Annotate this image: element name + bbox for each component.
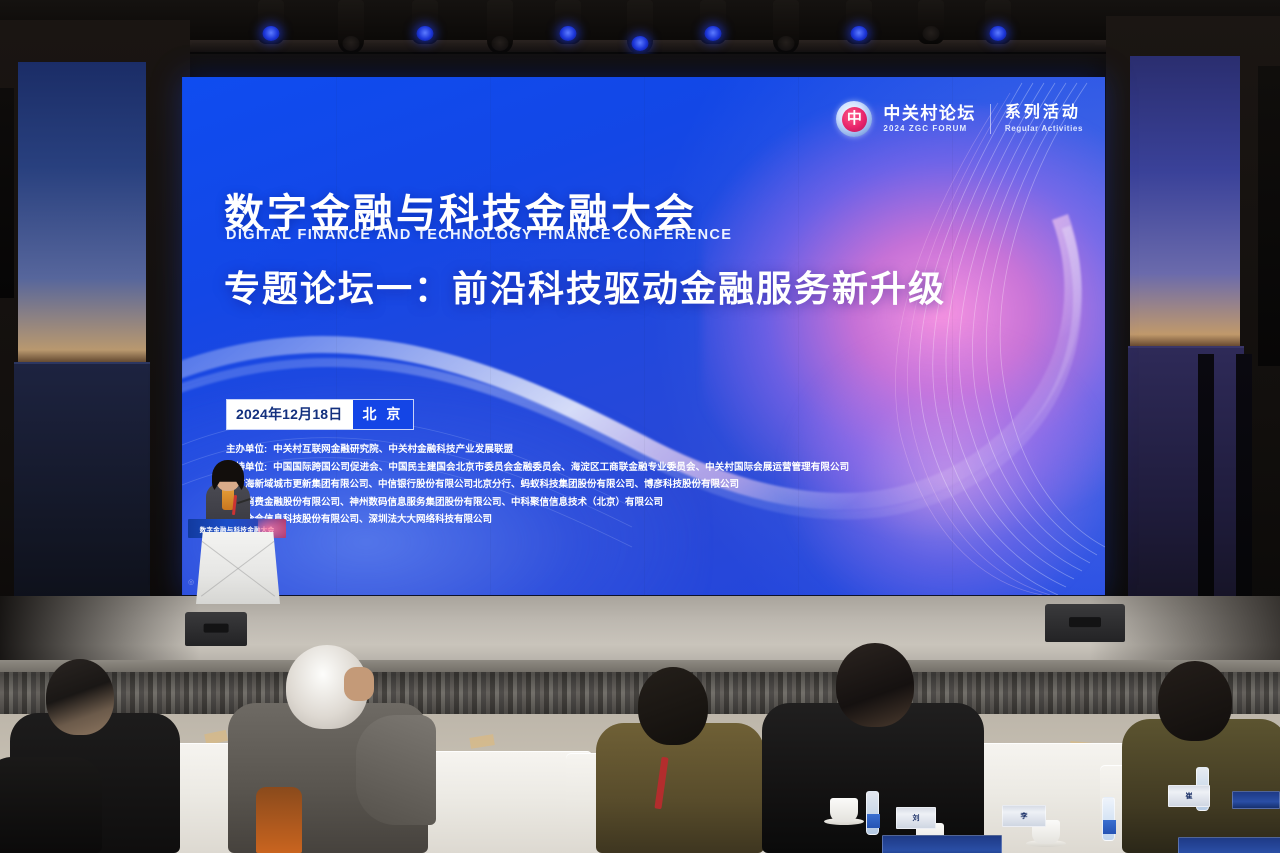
stage-light-icon [258,0,284,44]
audience-body [0,757,102,853]
stage-light-icon [487,0,513,54]
water-bottle [866,791,879,835]
name-card-text: 刘 [913,813,920,823]
line-array-speaker-left [0,88,14,298]
wall-panel-left-dark [14,362,150,632]
audience-member [596,653,776,853]
water-bottle [1102,797,1115,841]
name-card: 崔 [1168,785,1210,807]
audience-member [228,633,448,853]
door-gap [1236,354,1252,630]
date-location-badge: 2024年12月18日 北 京 [226,399,414,430]
program-booklet [882,835,1002,853]
audience-hand [344,667,374,701]
credit-text: 中关村互联网金融研究院、中关村金融科技产业发展联盟 [273,441,513,455]
forum-emblem-icon: 中 [836,101,872,137]
stage-light-icon [338,0,364,54]
led-presentation-screen: 中 中关村论坛 2024 ZGC FORUM 系列活动 Regular Acti… [182,77,1105,595]
stage-light-icon [918,0,944,44]
forum-series-cn: 系列活动 [1005,105,1083,122]
stage-light-icon [773,0,799,54]
conference-title-en: DIGITAL FINANCE AND TECHNOLOGY FINANCE C… [226,227,732,243]
forum-brand-en: 2024 ZGC FORUM [883,124,976,133]
stage-light-icon [555,0,581,44]
audience-scarf [256,787,302,853]
forum-logo: 中 中关村论坛 2024 ZGC FORUM 系列活动 Regular Acti… [836,101,1083,137]
credit-row: 支持单位: 中国国际跨国公司促进会、中国民主建国会北京市委员会金融委员会、海淀区… [226,459,916,473]
door-gap [1198,354,1214,630]
audience-head [638,667,708,745]
wall-panel-right-lit [1130,56,1240,346]
name-card: 李 [1002,805,1046,827]
podium [196,532,280,604]
stage-light-icon [985,0,1011,44]
program-booklet [1178,837,1280,853]
credit-label: 主办单位: [226,441,267,455]
credit-continued-line: 马上消费金融股份有限公司、神州数码信息服务集团股份有限公司、中科聚信信息技术（北… [226,494,916,508]
forum-series-en: Regular Activities [1005,124,1083,133]
event-date: 2024年12月18日 [227,400,352,429]
forum-session-title: 专题论坛一：前沿科技驱动金融服务新升级 [224,260,946,312]
credit-continued-line: 上海合合信息科技股份有限公司、深圳法大大网络科技有限公司 [226,511,916,525]
stage-light-icon [846,0,872,44]
credit-text: 中国国际跨国公司促进会、中国民主建国会北京市委员会金融委员会、海淀区工商联金融专… [273,459,849,473]
organizer-credits: 主办单位: 中关村互联网金融研究院、中关村金融科技产业发展联盟 支持单位: 中国… [226,441,916,529]
audience-member [1122,653,1280,853]
name-card: 刘 [896,807,936,829]
forum-brand-cn: 中关村论坛 [883,105,976,123]
credit-continued-line: 北京海新域城市更新集团有限公司、中信银行股份有限公司北京分行、蚂蚁科技集团股份有… [226,476,916,490]
event-city: 北 京 [352,400,414,429]
line-array-speaker-right [1258,66,1280,366]
wall-panel-left-lit [18,62,146,362]
forum-emblem-glyph: 中 [842,107,867,132]
name-card-text: 李 [1021,811,1028,821]
conference-stage-photo: 中 中关村论坛 2024 ZGC FORUM 系列活动 Regular Acti… [0,0,1280,853]
stage-light-icon [412,0,438,44]
stage-floor-monitor [1045,604,1125,642]
program-booklet [1232,791,1280,809]
audience-head [1158,661,1232,741]
credit-row: 主办单位: 中关村互联网金融研究院、中关村金融科技产业发展联盟 [226,441,916,455]
wall-panel-right-door [1128,346,1244,634]
audience-head [836,643,914,727]
logo-divider [990,104,991,134]
coffee-cup [830,798,858,822]
name-card-text: 崔 [1186,791,1193,801]
audience-member [0,703,104,853]
stage-light-icon [700,0,726,44]
audience-arm [356,715,436,825]
stage-light-icon [627,0,653,54]
